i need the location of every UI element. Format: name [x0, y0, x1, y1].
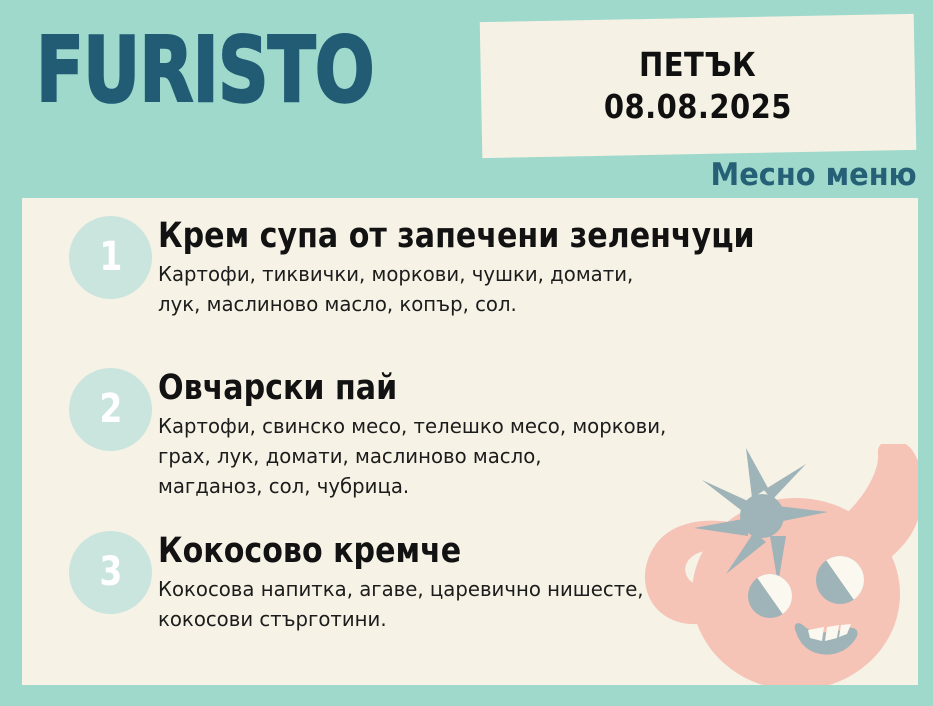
menu-card: 1 Крем супа от запечени зеленчуци Картоф…	[22, 198, 918, 685]
menu-kind-label: Месно меню	[711, 159, 917, 192]
item-title: Овчарски пай	[158, 368, 794, 408]
item-number-badge: 2	[69, 368, 152, 451]
menu-poster: FURISTO ПЕТЪК 08.08.2025 Месно меню	[0, 0, 933, 706]
item-text-block: Овчарски пай Картофи, свинско месо, теле…	[158, 368, 898, 501]
item-number-badge: 3	[69, 531, 152, 614]
item-title: Крем супа от запечени зеленчуци	[158, 216, 794, 256]
date-card: ПЕТЪК 08.08.2025	[480, 14, 917, 158]
item-description: Картофи, тиквички, моркови, чушки, домат…	[158, 259, 868, 319]
item-number-badge: 1	[69, 216, 152, 299]
item-text-block: Крем супа от запечени зеленчуци Картофи,…	[158, 216, 898, 319]
menu-item-list: 1 Крем супа от запечени зеленчуци Картоф…	[22, 198, 918, 685]
item-description: Кокосова напитка, агаве, царевично нишес…	[158, 574, 868, 634]
item-title: Кокосово кремче	[158, 531, 794, 571]
item-number: 2	[99, 389, 122, 429]
item-text-block: Кокосово кремче Кокосова напитка, агаве,…	[158, 531, 898, 634]
item-number: 3	[99, 552, 122, 592]
brand-logo: FURISTO	[36, 26, 374, 116]
weekday-label: ПЕТЪК	[639, 47, 756, 83]
item-description: Картофи, свинско месо, телешко месо, мор…	[158, 411, 868, 501]
date-card-inner: ПЕТЪК 08.08.2025	[481, 18, 915, 154]
poster-header: FURISTO ПЕТЪК 08.08.2025 Месно меню	[0, 0, 933, 198]
item-number: 1	[99, 237, 122, 277]
date-label: 08.08.2025	[604, 89, 792, 125]
